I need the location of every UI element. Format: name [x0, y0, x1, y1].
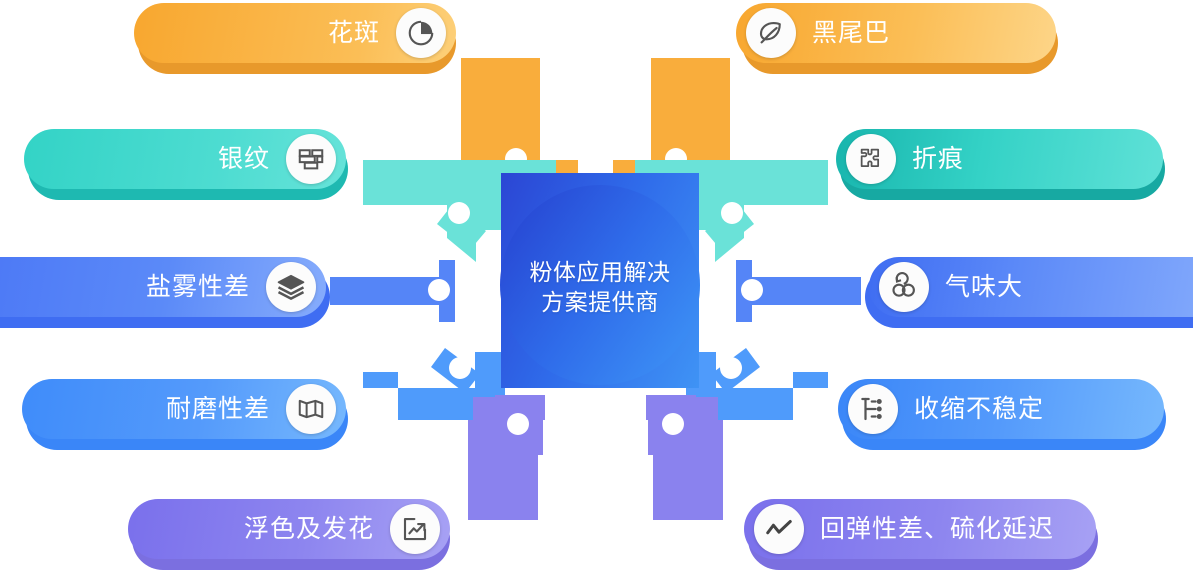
node-nai-mo-xing-cha[interactable]: 耐磨性差 — [22, 379, 346, 439]
node-hua-ban[interactable]: 花斑 — [134, 3, 456, 63]
node-qi-wei-da[interactable]: 气味大 — [869, 257, 1193, 317]
node-label: 耐磨性差 — [166, 397, 270, 422]
node-zhe-hen[interactable]: 折痕 — [836, 129, 1163, 189]
pie-chart-icon — [396, 8, 446, 58]
node-label: 折痕 — [912, 147, 964, 172]
node-label: 回弹性差、硫化延迟 — [820, 517, 1054, 542]
center-node[interactable]: 粉体应用解决 方案提供商 — [501, 173, 699, 401]
chart-arrow-icon — [390, 504, 440, 554]
node-label: 盐雾性差 — [146, 275, 250, 300]
node-yan-wu-xing-cha[interactable]: 盐雾性差 — [0, 257, 326, 317]
leaf-icon — [746, 8, 796, 58]
sitemap-icon — [848, 384, 898, 434]
node-shou-suo-bu-wen-ding[interactable]: 收缩不稳定 — [838, 379, 1164, 439]
node-label: 银纹 — [218, 147, 270, 172]
node-label: 气味大 — [945, 275, 1023, 300]
center-title: 粉体应用解决 方案提供商 — [530, 257, 671, 318]
node-label: 花斑 — [328, 21, 380, 46]
node-hei-wei-ba[interactable]: 黑尾巴 — [736, 3, 1056, 63]
connector-qi-wei — [736, 260, 861, 322]
node-label: 浮色及发花 — [244, 517, 374, 542]
node-yin-wen[interactable]: 银纹 — [24, 129, 346, 189]
node-hui-tan-xing-cha[interactable]: 回弹性差、硫化延迟 — [744, 499, 1096, 559]
node-fu-se-ji-fa-hua[interactable]: 浮色及发花 — [128, 499, 450, 559]
connector-yan-wu — [330, 260, 455, 322]
book-icon — [286, 384, 336, 434]
connector-fu-se — [468, 395, 545, 520]
puzzle-piece-icon — [846, 134, 896, 184]
layers-icon — [266, 262, 316, 312]
node-label: 黑尾巴 — [812, 21, 890, 46]
node-label: 收缩不稳定 — [914, 397, 1044, 422]
recycle-icon — [879, 262, 929, 312]
line-chart-icon — [754, 504, 804, 554]
brick-wall-icon — [286, 134, 336, 184]
connector-hui-tan — [646, 395, 723, 520]
diagram-canvas: 花斑 黑尾巴 银纹 — [0, 0, 1193, 577]
